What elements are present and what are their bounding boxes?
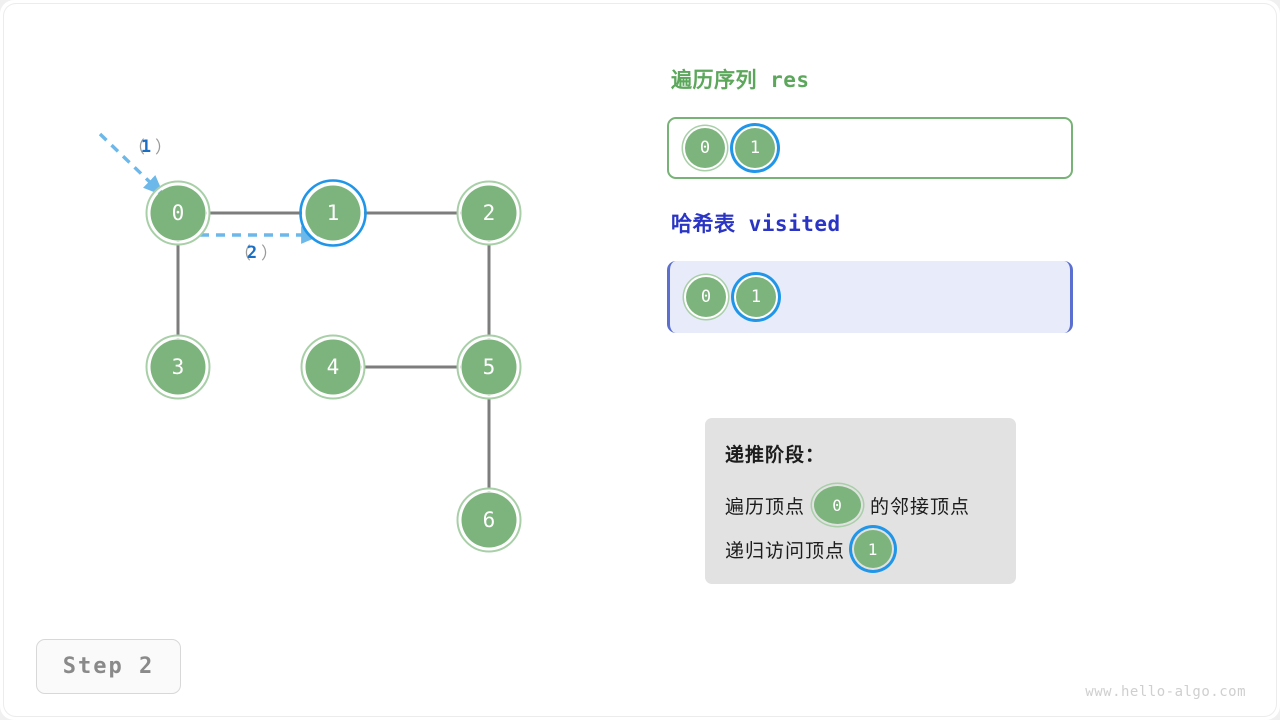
graph-node-6[interactable]: 6 [458, 489, 521, 552]
graph-diagram: 0 1 2 3 4 [0, 0, 1280, 720]
graph-node-3[interactable]: 3 [147, 336, 210, 399]
res-item-1[interactable]: 1 [735, 128, 775, 168]
graph-node-3-label: 3 [172, 355, 185, 379]
visited-item-0-label: 0 [701, 287, 711, 307]
graph-node-4-label: 4 [327, 355, 340, 379]
graph-node-6-label: 6 [483, 508, 496, 532]
graph-node-5-label: 5 [483, 355, 496, 379]
visited-hashtable-box: 0 1 [667, 261, 1073, 333]
graph-node-0-label: 0 [172, 201, 185, 225]
res-item-0-label: 0 [700, 138, 710, 158]
step-badge-label: Step 2 [63, 654, 154, 679]
graph-node-5[interactable]: 5 [458, 336, 521, 399]
graph-node-0[interactable]: 0 [147, 182, 210, 245]
phase-info-node-1-label: 1 [868, 540, 879, 559]
visited-panel-title: 哈希表 visited [671, 208, 841, 238]
phase-info-node-1: 1 [854, 530, 892, 568]
phase-info-line-1-pre: 遍历顶点 [725, 492, 805, 519]
annotation-step2: （ 2 ） [234, 243, 278, 264]
graph-node-1[interactable]: 1 [301, 181, 366, 246]
res-panel-title: 遍历序列 res [671, 64, 810, 94]
watermark: www.hello-algo.com [1085, 684, 1246, 700]
annotation-step1-number: 1 [141, 137, 151, 157]
res-item-0[interactable]: 0 [685, 128, 725, 168]
visited-item-0[interactable]: 0 [686, 277, 726, 317]
phase-info-box: 递推阶段： 遍历顶点 0 的邻接顶点 递归访问顶点 1 [705, 418, 1016, 584]
visited-item-1[interactable]: 1 [736, 277, 776, 317]
illustration-canvas: 0 1 2 3 4 [0, 0, 1280, 720]
annotation-step2-close: ） [261, 244, 278, 264]
graph-node-2-label: 2 [483, 201, 496, 225]
res-item-1-label: 1 [750, 138, 760, 158]
graph-node-4[interactable]: 4 [302, 336, 365, 399]
step-badge: Step 2 [36, 639, 181, 694]
phase-info-line-2: 递归访问顶点 1 [725, 527, 1016, 571]
graph-node-2[interactable]: 2 [458, 182, 521, 245]
phase-info-line-1: 遍历顶点 0 的邻接顶点 [725, 483, 1016, 527]
watermark-label: www.hello-algo.com [1085, 684, 1246, 700]
visited-item-1-label: 1 [751, 287, 761, 307]
graph-node-1-label: 1 [327, 201, 340, 225]
phase-info-heading: 递推阶段： [725, 440, 1016, 467]
annotation-step1: （ 1 ） [128, 137, 172, 158]
phase-info-line-2-pre: 递归访问顶点 [725, 536, 845, 563]
phase-info-line-1-post: 的邻接顶点 [870, 492, 970, 519]
phase-info-node-0-label: 0 [832, 496, 843, 515]
annotation-step2-number: 2 [247, 243, 257, 263]
phase-info-node-0: 0 [814, 486, 861, 524]
annotation-step1-close: ） [155, 138, 172, 158]
res-array-box: 0 1 [667, 117, 1073, 179]
